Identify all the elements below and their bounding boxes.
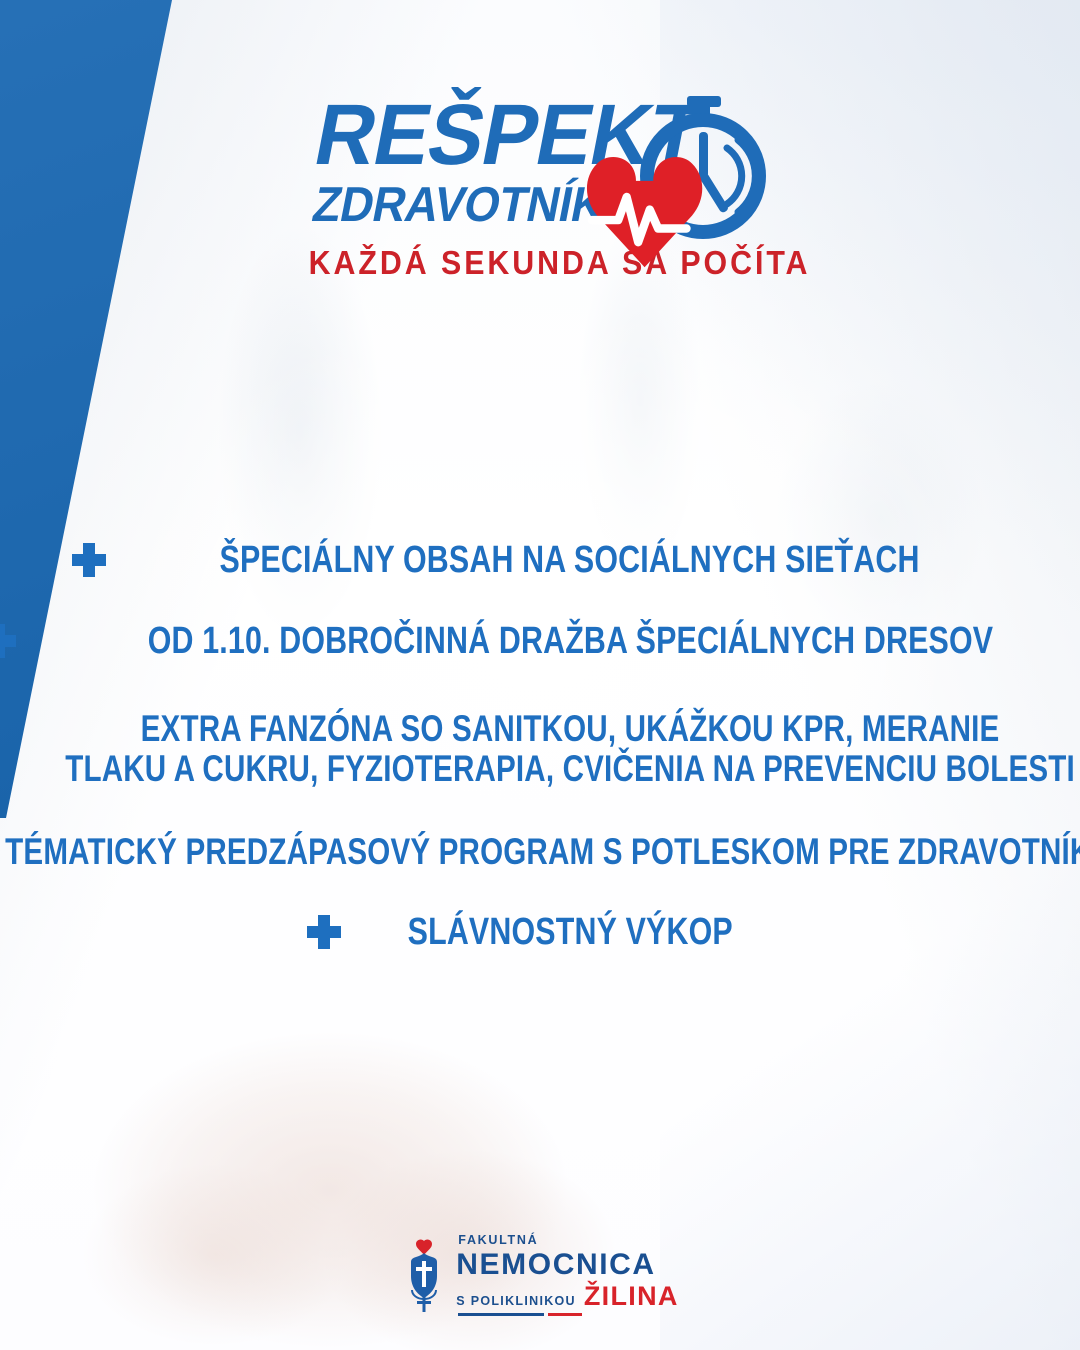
- hospital-logo-nemocnica: NEMOCNICA: [456, 1250, 678, 1280]
- stopwatch-heart-mark: [571, 90, 781, 290]
- list-item-label-line1: EXTRA FANZÓNA SO SANITKOU, UKÁŽKOU KPR, …: [141, 708, 1000, 749]
- poster-canvas: REŠPEKT ZDRAVOTNÍKOM KAŽDÁ SEKUNDA SA PO…: [0, 0, 1080, 1350]
- list-item-label-line2: TLAKU A CUKRU, FYZIOTERAPIA, CVIČENIA NA…: [65, 748, 1075, 789]
- list-item: ŠPECIÁLNY OBSAH NA SOCIÁLNYCH SIEŤACH: [0, 540, 1080, 581]
- hospital-logo-fakultna: FAKULTNÁ: [458, 1234, 678, 1247]
- list-item-label: SLÁVNOSTNÝ VÝKOP: [407, 912, 732, 953]
- hospital-logo: FAKULTNÁ NEMOCNICA S POLIKLINIKOU ŽILINA: [0, 1234, 1080, 1316]
- list-item: EXTRA FANZÓNA SO SANITKOU, UKÁŽKOU KPR, …: [0, 709, 1080, 788]
- hospital-logo-zilina: ŽILINA: [584, 1283, 679, 1310]
- list-item-label: OD 1.10. DOBROČINNÁ DRAŽBA ŠPECIÁLNYCH D…: [147, 621, 993, 662]
- list-item-label: TÉMATICKÝ PREDZÁPASOVÝ PROGRAM S POTLESK…: [5, 832, 1080, 872]
- rule-blue: [458, 1313, 544, 1316]
- list-item-label-multiline: EXTRA FANZÓNA SO SANITKOU, UKÁŽKOU KPR, …: [65, 709, 1075, 788]
- list-item: OD 1.10. DOBROČINNÁ DRAŽBA ŠPECIÁLNYCH D…: [0, 621, 1080, 662]
- program-highlights-list: ŠPECIÁLNY OBSAH NA SOCIÁLNYCH SIEŤACH OD…: [0, 540, 1080, 953]
- list-item: SLÁVNOSTNÝ VÝKOP: [0, 912, 1080, 953]
- hospital-logo-poliklinikou: S POLIKLINIKOU: [456, 1295, 576, 1308]
- list-item: TÉMATICKÝ PREDZÁPASOVÝ PROGRAM S POTLESK…: [0, 832, 1080, 872]
- medical-cross-icon: [72, 543, 106, 577]
- medical-cross-icon: [0, 624, 16, 658]
- hospital-logo-rules: [458, 1313, 678, 1316]
- medical-cross-icon: [307, 915, 341, 949]
- rule-red: [548, 1313, 582, 1316]
- list-item-label: ŠPECIÁLNY OBSAH NA SOCIÁLNYCH SIEŤACH: [220, 540, 920, 581]
- campaign-logo: REŠPEKT ZDRAVOTNÍKOM KAŽDÁ SEKUNDA SA PO…: [0, 96, 1080, 282]
- hospital-shield-cross-icon: [401, 1237, 447, 1313]
